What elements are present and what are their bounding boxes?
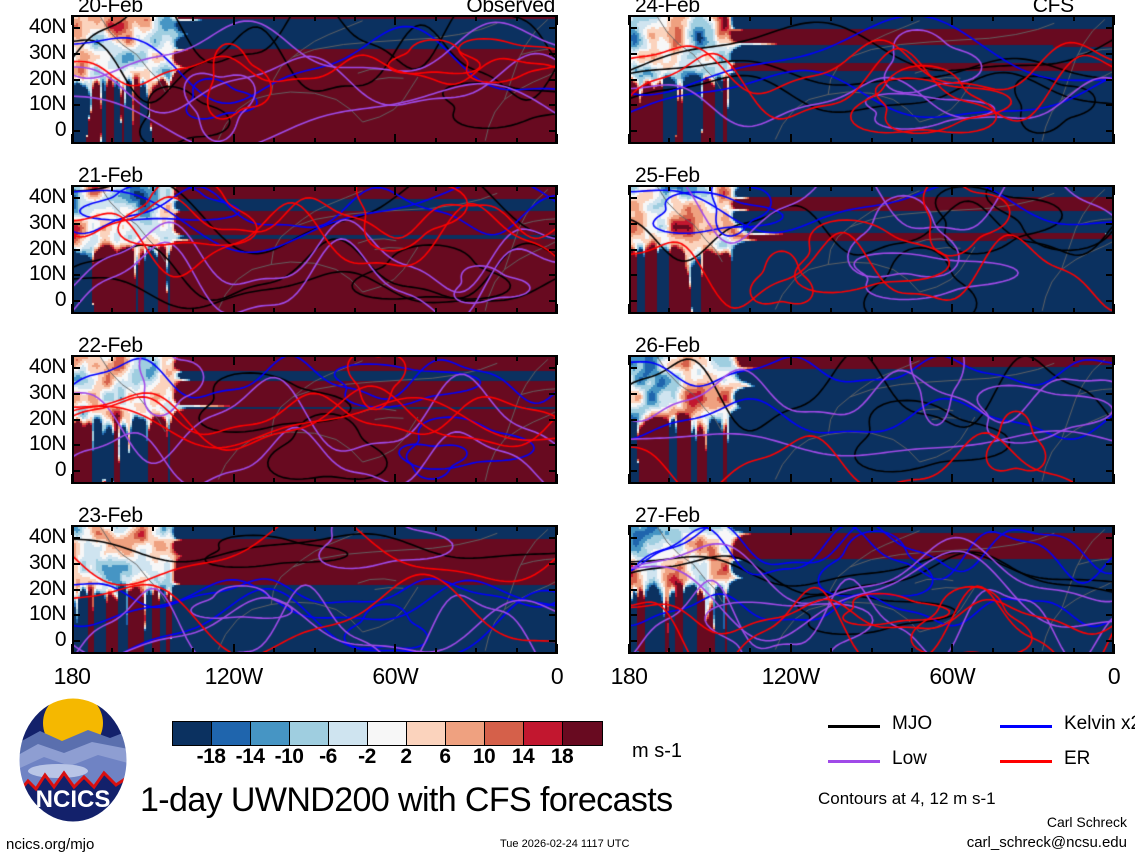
x-tick [911,308,913,314]
x-tick [911,185,913,191]
x-tick [830,355,832,361]
x-tick [709,185,711,191]
x-tick [1032,185,1034,191]
x-tick [992,648,994,654]
x-tick [152,185,154,191]
x-tick [273,355,275,361]
x-tick [314,308,316,314]
y-tick [549,367,557,369]
colorbar-tick-label: 18 [551,745,573,769]
y-axis-label: 20N [4,67,66,91]
x-tick [992,15,994,21]
map-plot-area [72,185,557,314]
x-tick [314,138,316,144]
x-tick [790,644,792,654]
x-tick [1073,185,1075,191]
x-axis-label: 0 [551,663,563,690]
y-tick [72,367,80,369]
x-tick [475,525,477,531]
y-axis-label: 40N [4,355,66,379]
x-tick [830,525,832,531]
y-tick [1106,640,1114,642]
x-tick [1113,474,1115,484]
colorbar [172,721,603,746]
y-tick [629,537,637,539]
x-tick [71,474,73,484]
y-axis-label: 30N [4,211,66,235]
y-tick [549,640,557,642]
legend-label: Low [892,748,927,770]
colorbar-tick-label: 6 [439,745,450,769]
x-tick [516,525,518,531]
x-tick [233,355,235,365]
y-tick [629,300,637,302]
x-tick [556,525,558,535]
x-tick [111,648,113,654]
x-tick [152,355,154,361]
y-tick [72,79,80,81]
x-tick [749,308,751,314]
x-tick [749,185,751,191]
x-tick [911,15,913,21]
x-tick [152,525,154,531]
x-tick [992,308,994,314]
y-tick [629,470,637,472]
x-tick [1073,15,1075,21]
x-tick [668,525,670,531]
x-tick [668,138,670,144]
x-tick [1032,355,1034,361]
x-tick [233,134,235,144]
x-tick [709,308,711,314]
x-tick [1073,648,1075,654]
colorbar-tick-label: -14 [236,745,265,769]
y-tick [72,444,80,446]
x-tick [435,355,437,361]
x-tick [192,138,194,144]
x-tick [709,478,711,484]
map-plot-area [72,525,557,654]
colorbar-swatch [563,722,602,745]
x-tick [749,138,751,144]
colorbar-tick-label: 14 [512,745,534,769]
x-tick [192,308,194,314]
y-tick [549,444,557,446]
y-tick [1106,470,1114,472]
x-tick [152,15,154,21]
y-tick [72,53,80,55]
y-axis-label: 10N [4,92,66,116]
x-tick [516,308,518,314]
colorbar-tick-label: -10 [275,745,304,769]
y-tick [629,419,637,421]
x-tick [790,15,792,25]
x-tick [911,648,913,654]
x-tick [435,648,437,654]
x-tick [516,15,518,21]
x-tick [628,474,630,484]
colorbar-tick-labels: -18-14-10-6-226101418 [172,745,642,771]
y-tick [549,393,557,395]
y-tick [629,223,637,225]
map-plot-area [629,15,1114,144]
y-axis-label: 30N [4,41,66,65]
y-tick [549,470,557,472]
contours-note: Contours at 4, 12 m s-1 [818,789,996,809]
x-tick [790,525,792,535]
x-tick [1113,355,1115,365]
x-tick [668,308,670,314]
y-tick [629,614,637,616]
y-tick [549,589,557,591]
y-tick [72,223,80,225]
y-tick [549,53,557,55]
y-tick [549,223,557,225]
x-tick [1113,644,1115,654]
colorbar-swatch [290,722,329,745]
y-tick [549,197,557,199]
x-tick [354,355,356,361]
x-tick [516,138,518,144]
y-tick [1106,274,1114,276]
x-tick [556,474,558,484]
x-tick [273,15,275,21]
y-tick [549,27,557,29]
x-tick [911,138,913,144]
x-tick [628,355,630,365]
y-tick [549,104,557,106]
y-tick [72,300,80,302]
x-tick [709,15,711,21]
x-tick [790,304,792,314]
x-tick [71,644,73,654]
x-tick [71,134,73,144]
x-tick [475,648,477,654]
y-tick [72,419,80,421]
x-tick [111,308,113,314]
x-tick [830,648,832,654]
uwnd200-anomaly-field [74,527,555,652]
y-axis-label: 30N [4,551,66,575]
x-tick [628,185,630,195]
y-tick [72,104,80,106]
x-tick [749,648,751,654]
x-tick [435,308,437,314]
y-axis-label: 40N [4,15,66,39]
x-tick [475,138,477,144]
legend-line-swatch [828,725,880,728]
uwnd200-anomaly-field [631,527,1112,652]
x-tick [911,355,913,361]
credit-author: Carl Schreck [1047,814,1127,830]
x-tick [951,525,953,535]
x-tick [790,474,792,484]
y-tick [629,249,637,251]
x-tick [516,648,518,654]
x-tick [475,355,477,361]
y-tick [1106,300,1114,302]
x-tick [314,355,316,361]
x-tick [314,15,316,21]
colorbar-swatch [329,722,368,745]
x-tick [830,15,832,21]
map-plot-area [629,185,1114,314]
x-tick [871,138,873,144]
x-axis-label: 60W [929,663,975,690]
x-tick [1113,304,1115,314]
legend-line-swatch [1000,725,1052,728]
x-tick [394,355,396,365]
x-tick [871,185,873,191]
uwnd200-anomaly-field [74,357,555,482]
x-tick [71,304,73,314]
x-tick [556,15,558,25]
x-tick [911,525,913,531]
y-tick [1106,444,1114,446]
y-axis-label: 0 [4,458,66,482]
y-tick [549,537,557,539]
x-tick [233,15,235,25]
x-tick [314,648,316,654]
x-tick [709,648,711,654]
x-tick [951,304,953,314]
x-tick [992,355,994,361]
x-tick [628,134,630,144]
x-tick [1113,525,1115,535]
y-tick [72,537,80,539]
x-tick [354,478,356,484]
x-tick [233,185,235,195]
x-tick [1113,185,1115,195]
x-tick [556,134,558,144]
x-tick [1032,138,1034,144]
y-axis-label: 40N [4,525,66,549]
x-tick [668,648,670,654]
x-tick [790,355,792,365]
figure-title: 1-day UWND200 with CFS forecasts [140,781,673,820]
colorbar-tick-label: -6 [319,745,337,769]
x-tick [435,138,437,144]
y-tick [549,563,557,565]
y-tick [1106,537,1114,539]
x-tick [1073,478,1075,484]
x-tick [1113,134,1115,144]
x-tick [556,185,558,195]
x-tick [233,304,235,314]
x-tick [749,525,751,531]
x-tick [475,185,477,191]
x-tick [709,138,711,144]
x-tick [749,355,751,361]
x-tick [435,15,437,21]
uwnd200-anomaly-field [631,187,1112,312]
y-axis-label: 0 [4,628,66,652]
y-tick [549,614,557,616]
x-tick [152,648,154,654]
x-tick [628,525,630,535]
x-tick [273,525,275,531]
x-tick [152,138,154,144]
x-tick [1073,138,1075,144]
y-tick [72,27,80,29]
x-tick [1073,525,1075,531]
y-tick [629,197,637,199]
x-tick [273,308,275,314]
y-axis-label: 40N [4,185,66,209]
x-tick [394,15,396,25]
colorbar-swatch [407,722,446,745]
x-tick [871,15,873,21]
y-tick [1106,197,1114,199]
x-tick [749,478,751,484]
x-tick [192,648,194,654]
y-tick [1106,393,1114,395]
x-axis-label: 0 [1108,663,1120,690]
y-tick [72,614,80,616]
x-tick [628,644,630,654]
y-tick [1106,563,1114,565]
x-tick [394,134,396,144]
y-tick [629,444,637,446]
y-tick [549,300,557,302]
y-tick [72,589,80,591]
x-tick [354,308,356,314]
x-tick [475,478,477,484]
y-tick [629,367,637,369]
x-tick [233,525,235,535]
y-tick [72,197,80,199]
y-tick [72,470,80,472]
legend-label: Kelvin x2 [1064,713,1135,735]
x-tick [1032,648,1034,654]
x-tick [394,304,396,314]
x-tick [830,308,832,314]
x-tick [71,355,73,365]
x-tick [273,648,275,654]
x-tick [314,478,316,484]
y-axis-label: 20N [4,577,66,601]
x-tick [273,138,275,144]
x-tick [1032,478,1034,484]
y-tick [629,53,637,55]
colorbar-tick-label: 10 [473,745,495,769]
legend-label: MJO [892,713,932,735]
x-tick [152,308,154,314]
y-tick [72,274,80,276]
y-tick [1106,130,1114,132]
x-tick [951,185,953,195]
x-tick [556,355,558,365]
y-tick [629,27,637,29]
y-tick [1106,249,1114,251]
x-tick [111,138,113,144]
y-tick [549,249,557,251]
y-axis-label: 0 [4,288,66,312]
site-url: ncics.org/mjo [6,836,94,853]
y-tick [1106,367,1114,369]
x-tick [475,15,477,21]
x-tick [556,304,558,314]
x-tick [709,355,711,361]
y-tick [549,274,557,276]
x-tick [354,15,356,21]
y-tick [1106,614,1114,616]
x-tick [830,185,832,191]
y-tick [1106,27,1114,29]
y-tick [72,130,80,132]
x-tick [273,185,275,191]
y-axis-label: 0 [4,118,66,142]
x-tick [668,478,670,484]
y-tick [549,419,557,421]
colorbar-swatch [212,722,251,745]
x-tick [314,525,316,531]
colorbar-swatch [524,722,563,745]
x-tick [992,185,994,191]
x-tick [192,525,194,531]
y-tick [629,79,637,81]
uwnd200-anomaly-field [631,357,1112,482]
x-tick [668,355,670,361]
colorbar-swatch [368,722,407,745]
legend-label: ER [1064,748,1090,770]
x-tick [1032,308,1034,314]
colorbar-swatch [485,722,524,745]
map-plot-area [72,15,557,144]
y-tick [629,393,637,395]
x-tick [790,134,792,144]
x-tick [516,478,518,484]
x-tick [951,15,953,25]
colorbar-swatch [173,722,212,745]
x-tick [668,185,670,191]
x-tick [628,15,630,25]
x-tick [394,525,396,535]
x-tick [516,185,518,191]
y-tick [629,563,637,565]
ncics-logo: NCICS [18,697,128,823]
generation-timestamp: Tue 2026-02-24 1117 UTC [500,838,629,850]
colorbar-tick-label: 2 [400,745,411,769]
x-tick [192,185,194,191]
x-tick [111,185,113,191]
y-axis-label: 10N [4,602,66,626]
x-tick [749,15,751,21]
x-tick [992,478,994,484]
colorbar-swatch [446,722,485,745]
x-tick [790,185,792,195]
credit-email: carl_schreck@ncsu.edu [967,834,1127,851]
x-tick [192,15,194,21]
ncics-logo-text: NCICS [36,786,111,813]
legend-line-swatch [828,760,880,763]
x-tick [951,644,953,654]
x-tick [354,185,356,191]
x-tick [71,525,73,535]
x-tick [435,525,437,531]
x-tick [233,474,235,484]
uwnd200-anomaly-field [631,17,1112,142]
x-tick [1032,15,1034,21]
x-tick [394,644,396,654]
x-tick [71,185,73,195]
legend-line-swatch [1000,760,1052,763]
x-tick [1073,308,1075,314]
x-tick [111,15,113,21]
y-axis-label: 20N [4,237,66,261]
y-axis-label: 10N [4,262,66,286]
y-tick [72,249,80,251]
